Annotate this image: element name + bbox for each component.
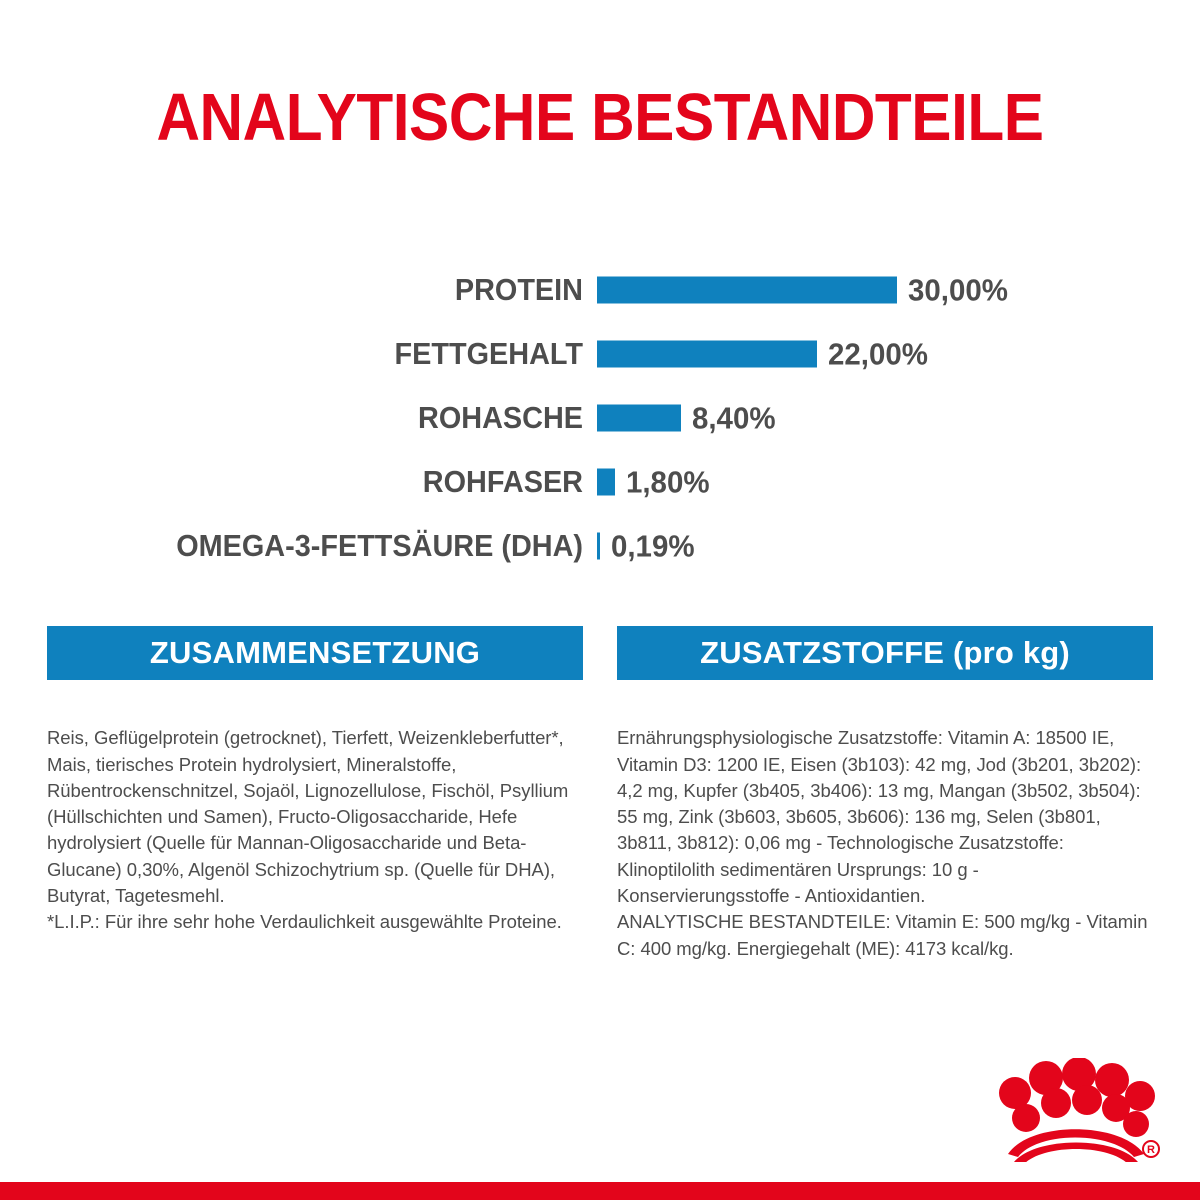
panel-body-zusammensetzung: Reis, Geflügelprotein (getrocknet), Tier…	[47, 699, 583, 962]
bar-value-omega-3: 0,19%	[611, 529, 695, 563]
bar-fill-rohasche	[597, 405, 681, 432]
analytical-constituents-chart: PROTEIN 30,00% FETTGEHALT 22,00% ROHASCH…	[0, 258, 1200, 578]
bar-fill-rohfaser	[597, 469, 615, 496]
bar-fill-protein	[597, 277, 897, 304]
bar-row: ROHASCHE 8,40%	[0, 386, 1200, 450]
info-panels: ZUSAMMENSETZUNG Reis, Geflügelprotein (g…	[47, 626, 1153, 988]
bar-label-protein: PROTEIN	[41, 273, 583, 307]
bar-track-fettgehalt: 22,00%	[597, 341, 933, 368]
bar-fill-omega-3	[597, 533, 600, 560]
bar-label-rohfaser: ROHFASER	[41, 465, 583, 499]
composition-footnote: *L.I.P.: Für ihre sehr hohe Verdaulichke…	[47, 909, 583, 935]
panel-header-zusatzstoffe: ZUSATZSTOFFE (pro kg)	[617, 626, 1153, 680]
bar-value-rohasche: 8,40%	[692, 401, 776, 435]
bar-row: ROHFASER 1,80%	[0, 450, 1200, 514]
crown-arcs-icon	[1008, 1129, 1144, 1162]
bar-fill-fettgehalt	[597, 341, 817, 368]
bar-value-protein: 30,00%	[908, 273, 1008, 307]
additives-text: Ernährungsphysiologische Zusatzstoffe: V…	[617, 727, 1141, 906]
panel-header-zusammensetzung: ZUSAMMENSETZUNG	[47, 626, 583, 680]
bar-track-rohfaser: 1,80%	[597, 469, 714, 496]
panel-body-zusatzstoffe: Ernährungsphysiologische Zusatzstoffe: V…	[617, 699, 1153, 988]
royal-canin-logo: R	[988, 1058, 1164, 1162]
bar-row: PROTEIN 30,00%	[0, 258, 1200, 322]
bar-label-fettgehalt: FETTGEHALT	[41, 337, 583, 371]
panel-zusatzstoffe: ZUSATZSTOFFE (pro kg) Ernährungsphysiolo…	[617, 626, 1153, 988]
bar-value-fettgehalt: 22,00%	[828, 337, 928, 371]
registered-trademark-icon: R	[1143, 1141, 1159, 1157]
bottom-red-bar	[0, 1182, 1200, 1200]
bar-label-rohasche: ROHASCHE	[41, 401, 583, 435]
composition-text: Reis, Geflügelprotein (getrocknet), Tier…	[47, 727, 568, 906]
bar-track-protein: 30,00%	[597, 277, 1013, 304]
bar-row: OMEGA-3-FETTSÄURE (DHA) 0,19%	[0, 514, 1200, 578]
bar-track-rohasche: 8,40%	[597, 405, 780, 432]
bar-row: FETTGEHALT 22,00%	[0, 322, 1200, 386]
additives-analytical-text: ANALYTISCHE BESTANDTEILE: Vitamin E: 500…	[617, 909, 1153, 962]
crown-dots-icon	[999, 1058, 1155, 1137]
bar-value-rohfaser: 1,80%	[626, 465, 710, 499]
bar-label-omega-3: OMEGA-3-FETTSÄURE (DHA)	[41, 529, 583, 563]
product-nutrition-panel: ANALYTISCHE BESTANDTEILE PROTEIN 30,00% …	[0, 0, 1200, 1200]
svg-text:R: R	[1147, 1144, 1155, 1156]
bar-track-omega-3: 0,19%	[597, 533, 699, 560]
page-title: ANALYTISCHE BESTANDTEILE	[60, 79, 1140, 157]
panel-zusammensetzung: ZUSAMMENSETZUNG Reis, Geflügelprotein (g…	[47, 626, 583, 988]
